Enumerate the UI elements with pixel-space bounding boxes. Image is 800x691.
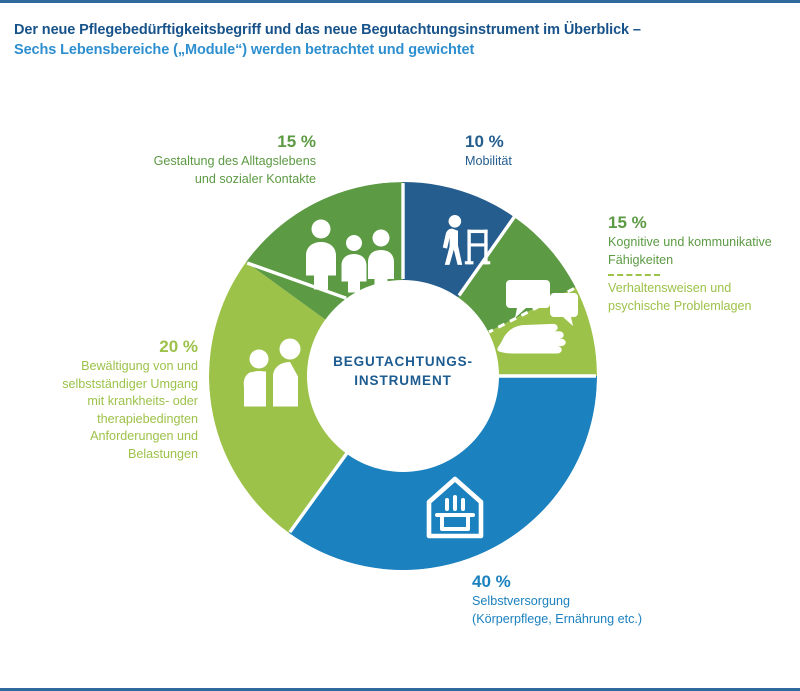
center-label-line-2: INSTRUMENT	[354, 373, 452, 388]
page-title: Der neue Pflegebedürftigkeitsbegriff und…	[14, 20, 784, 60]
callout-gestaltung-line-1: Gestaltung des Alltagslebens	[68, 153, 316, 171]
callout-kognitive-line-1: Kognitive und kommunikative	[608, 234, 798, 252]
people-group-icon	[306, 220, 394, 293]
segment-bewaeltigung[interactable]	[209, 262, 403, 533]
divider-dashed-kognitive-verhaltens	[489, 289, 574, 332]
infographic-page: Der neue Pflegebedürftigkeitsbegriff und…	[0, 0, 800, 691]
donut-segments	[209, 182, 597, 570]
segment-dividers	[247, 183, 596, 532]
walker-icon	[443, 215, 490, 265]
speech-bubbles-icon	[506, 280, 578, 326]
callout-mobilitaet-percent: 10 %	[465, 131, 665, 153]
callout-dashed-separator	[608, 274, 660, 276]
headline-line-1: Der neue Pflegebedürftigkeitsbegriff und…	[14, 20, 784, 40]
callout-selbstversorgung-percent: 40 %	[472, 571, 772, 593]
segment-mobilitaet[interactable]	[403, 182, 517, 376]
callout-bewaeltigung-line-2: selbstständiger Umgang	[12, 376, 198, 394]
callout-mobilitaet: 10 % Mobilität	[465, 131, 665, 171]
callout-gestaltung-percent: 15 %	[68, 131, 316, 153]
callout-kognitive-line-2: Fähigkeiten	[608, 252, 798, 270]
callout-selbstversorgung-line-2: (Körperpflege, Ernährung etc.)	[472, 611, 772, 629]
segment-selbstversorgung[interactable]	[289, 376, 597, 570]
callout-bewaeltigung-percent: 20 %	[12, 336, 198, 358]
top-rule	[0, 0, 800, 3]
divider-234	[290, 454, 347, 533]
doctor-patient-icon	[244, 339, 301, 407]
headline-line-2: Sechs Lebensbereiche („Module“) werden b…	[14, 40, 784, 60]
divider-306	[247, 263, 346, 298]
callout-bewaeltigung-line-5: Anforderungen und	[12, 428, 198, 446]
house-cooking-icon	[429, 479, 481, 536]
callout-bewaeltigung: 20 % Bewältigung von und selbstständiger…	[12, 336, 198, 463]
callout-kognitive-line-3: Verhaltensweisen und	[608, 280, 798, 298]
callout-bewaeltigung-line-4: therapiebedingten	[12, 411, 198, 429]
callout-kognitive-percent: 15 %	[608, 212, 798, 234]
segment-verhaltensweisen[interactable]	[403, 287, 597, 376]
callout-selbstversorgung-line-1: Selbstversorgung	[472, 593, 772, 611]
callout-bewaeltigung-line-1: Bewältigung von und	[12, 358, 198, 376]
donut-center-label: BEGUTACHTUNGS- INSTRUMENT	[303, 352, 503, 390]
hand-icon	[497, 324, 565, 354]
callout-gestaltung-line-2: und sozialer Kontakte	[68, 171, 316, 189]
callout-mobilitaet-line-1: Mobilität	[465, 153, 665, 171]
segment-gestaltung[interactable]	[246, 182, 403, 376]
center-label-line-1: BEGUTACHTUNGS-	[333, 354, 473, 369]
divider-36	[459, 215, 516, 296]
callout-bewaeltigung-line-6: Belastungen	[12, 446, 198, 464]
callout-selbstversorgung: 40 % Selbstversorgung (Körperpflege, Ern…	[472, 571, 772, 628]
callout-kognitive-line-4: psychische Problemlagen	[608, 298, 798, 316]
callout-kognitive: 15 % Kognitive und kommunikative Fähigke…	[608, 212, 798, 315]
segment-kognitive[interactable]	[403, 213, 576, 376]
callout-bewaeltigung-line-3: mit krankheits- oder	[12, 393, 198, 411]
callout-gestaltung: 15 % Gestaltung des Alltagslebens und so…	[68, 131, 316, 188]
